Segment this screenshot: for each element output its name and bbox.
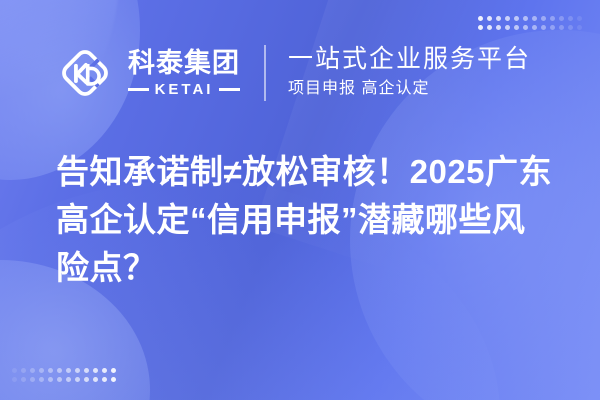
dot [487, 25, 492, 30]
dot-grid-bottom-left [10, 366, 118, 384]
brand-logo: 科泰集团 KETAI [56, 44, 240, 102]
dot [496, 25, 501, 30]
ketai-diamond-logo-icon [56, 44, 114, 102]
dot [75, 377, 80, 382]
dot [496, 16, 501, 21]
banner-header: 科泰集团 KETAI 一站式企业服务平台 项目申报 高企认定 [0, 44, 600, 102]
dot [21, 377, 26, 382]
brand-name-en-row: KETAI [128, 82, 240, 97]
dot [487, 16, 492, 21]
tagline-block: 一站式企业服务平台 项目申报 高企认定 [288, 45, 531, 102]
dot [66, 368, 71, 373]
dot [523, 16, 528, 21]
dot [514, 16, 519, 21]
dot [21, 368, 26, 373]
dot [12, 377, 17, 382]
tagline-sub: 项目申报 高企认定 [288, 77, 531, 101]
dot [93, 377, 98, 382]
dot [478, 16, 483, 21]
dot [39, 368, 44, 373]
dot [550, 16, 555, 21]
dot [532, 16, 537, 21]
dot [111, 368, 116, 373]
dot-grid-top-right [476, 14, 584, 32]
dot [30, 368, 35, 373]
headline-line-3: 险点？ [56, 244, 576, 292]
dot [39, 377, 44, 382]
dot [84, 377, 89, 382]
dot [57, 368, 62, 373]
headline-line-2: 高企认定“信用申报”潜藏哪些风 [56, 196, 576, 244]
dot [559, 25, 564, 30]
dot [559, 16, 564, 21]
headline: 告知承诺制≠放松审核！2025广东 高企认定“信用申报”潜藏哪些风 险点？ [56, 148, 576, 293]
dot [30, 377, 35, 382]
dot [48, 368, 53, 373]
dot [66, 377, 71, 382]
dot [57, 377, 62, 382]
dot [568, 25, 573, 30]
dot [550, 25, 555, 30]
header-divider [264, 45, 266, 101]
brand-wordmark: 科泰集团 KETAI [128, 49, 240, 96]
wordmark-rule-left [128, 88, 149, 91]
promo-banner: 科泰集团 KETAI 一站式企业服务平台 项目申报 高企认定 告知承诺制≠放松审… [0, 0, 600, 400]
dot [102, 377, 107, 382]
dot [505, 16, 510, 21]
headline-line-1: 告知承诺制≠放松审核！2025广东 [56, 148, 576, 196]
dot [532, 25, 537, 30]
brand-name-en: KETAI [155, 82, 214, 97]
dot [48, 377, 53, 382]
dot [541, 25, 546, 30]
brand-name-cn: 科泰集团 [128, 49, 240, 77]
dot [568, 16, 573, 21]
dot [514, 25, 519, 30]
tagline-main: 一站式企业服务平台 [288, 45, 531, 75]
dot [12, 368, 17, 373]
wordmark-rule-right [219, 88, 240, 91]
dot [523, 25, 528, 30]
dot [84, 368, 89, 373]
dot [93, 368, 98, 373]
dot [505, 25, 510, 30]
dot [541, 16, 546, 21]
dot [102, 368, 107, 373]
dot [577, 25, 582, 30]
dot [75, 368, 80, 373]
dot [577, 16, 582, 21]
dot [478, 25, 483, 30]
dot [111, 377, 116, 382]
